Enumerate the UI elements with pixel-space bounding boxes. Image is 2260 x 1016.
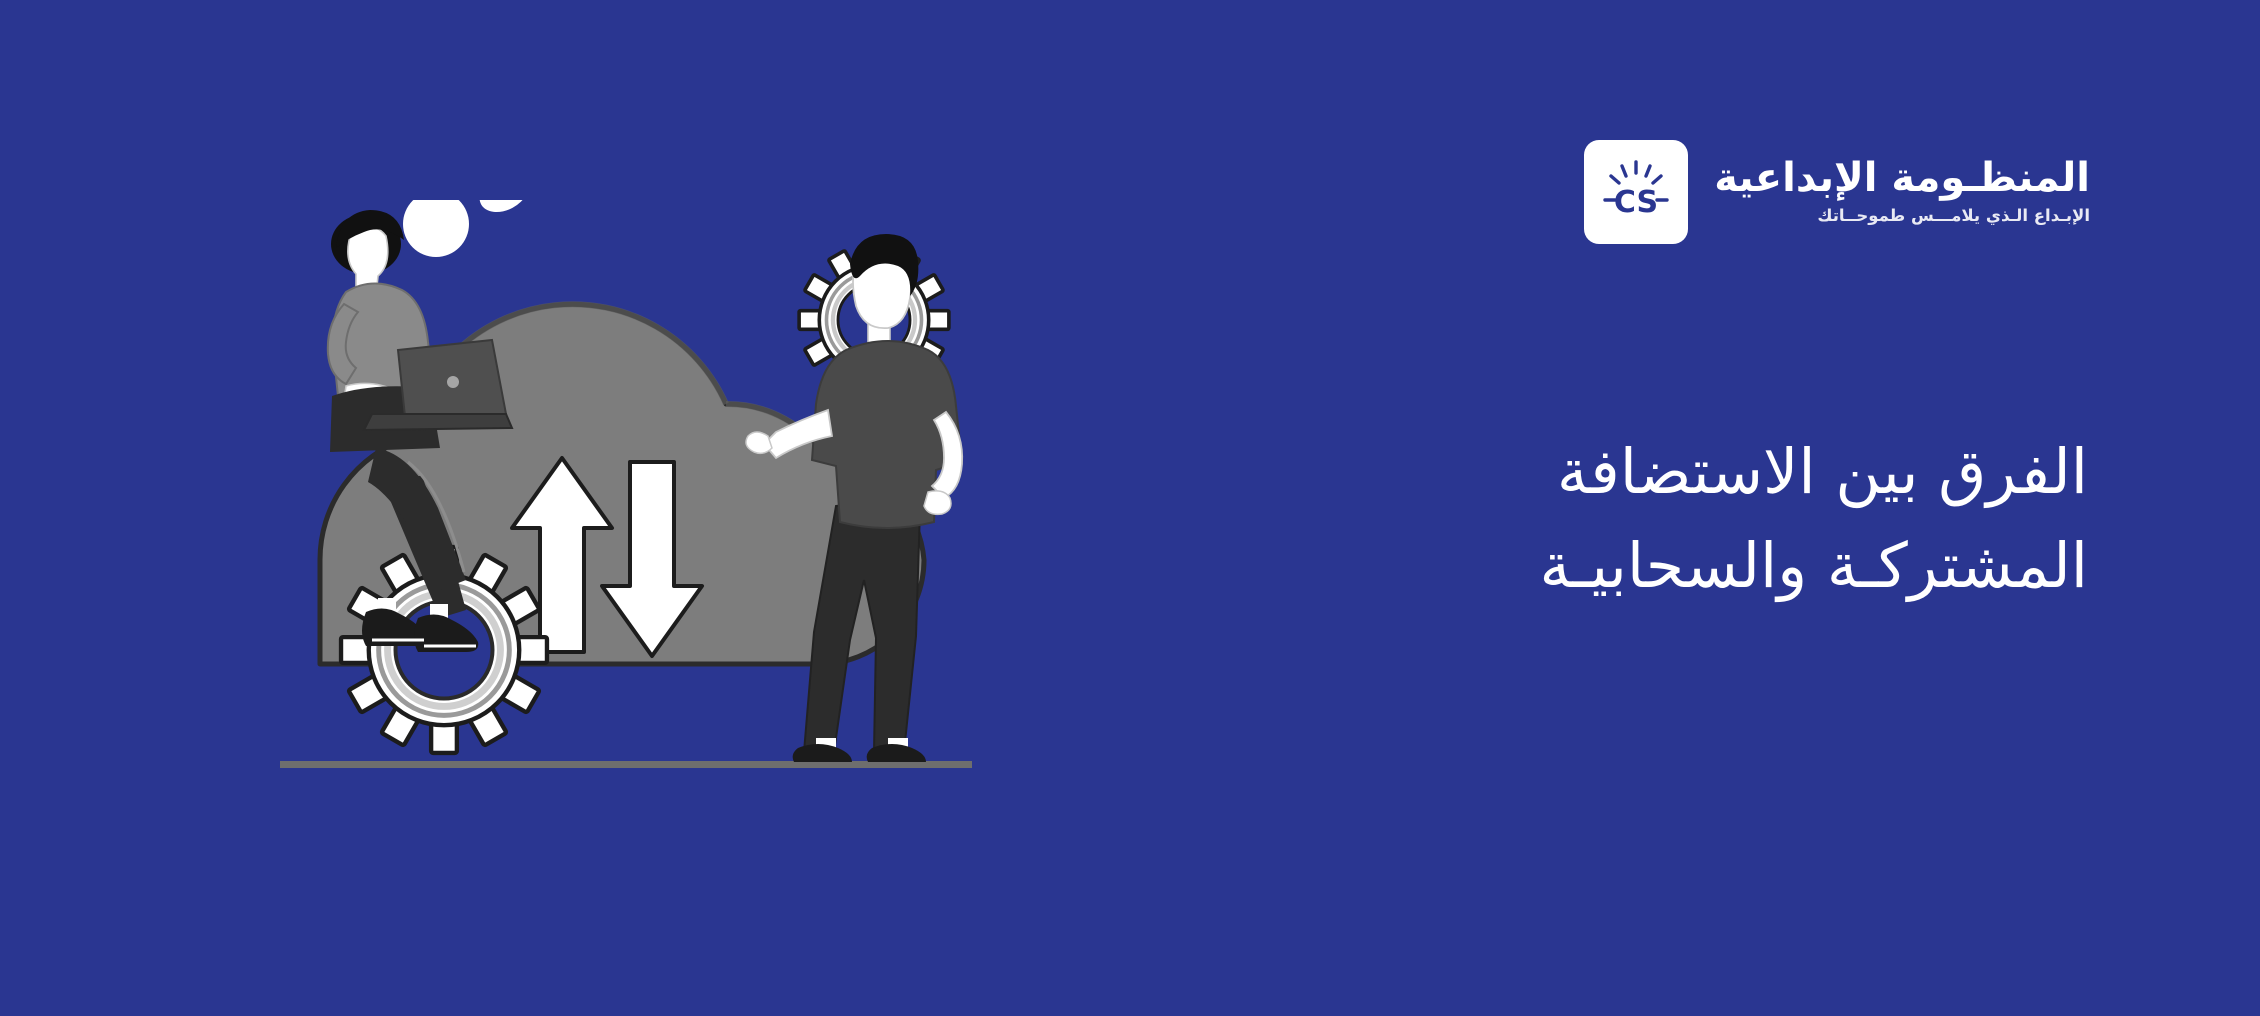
headline-line-1: الفرق بين الاستضافة [1168,425,2088,519]
brand-title: المنظـومة الإبداعية [1714,155,2090,202]
cloud-hosting-illustration [280,200,1000,800]
brand-logo-lockup[interactable]: CS المنظـومة الإبداعية الإبـداع الـذي يل… [1584,140,2090,244]
thought-bubble-ellipse [473,200,536,220]
brand-wordmark: المنظـومة الإبداعية الإبـداع الـذي يلامـ… [1714,155,2090,229]
cs-logo-mark[interactable]: CS [1584,140,1688,244]
brand-tagline: الإبـداع الـذي يلامـــس طموحــاتك [1817,204,2090,229]
thought-bubble-large [403,200,469,257]
slide-banner: CS المنظـومة الإبداعية الإبـداع الـذي يل… [0,0,2260,1016]
cs-monogram-text: CS [1614,185,1658,220]
page-title: الفرق بين الاستضافة المشتركـة والسحابيـة [1168,425,2088,613]
ground-line [280,761,972,768]
headline-line-2: المشتركـة والسحابيـة [1168,519,2088,613]
